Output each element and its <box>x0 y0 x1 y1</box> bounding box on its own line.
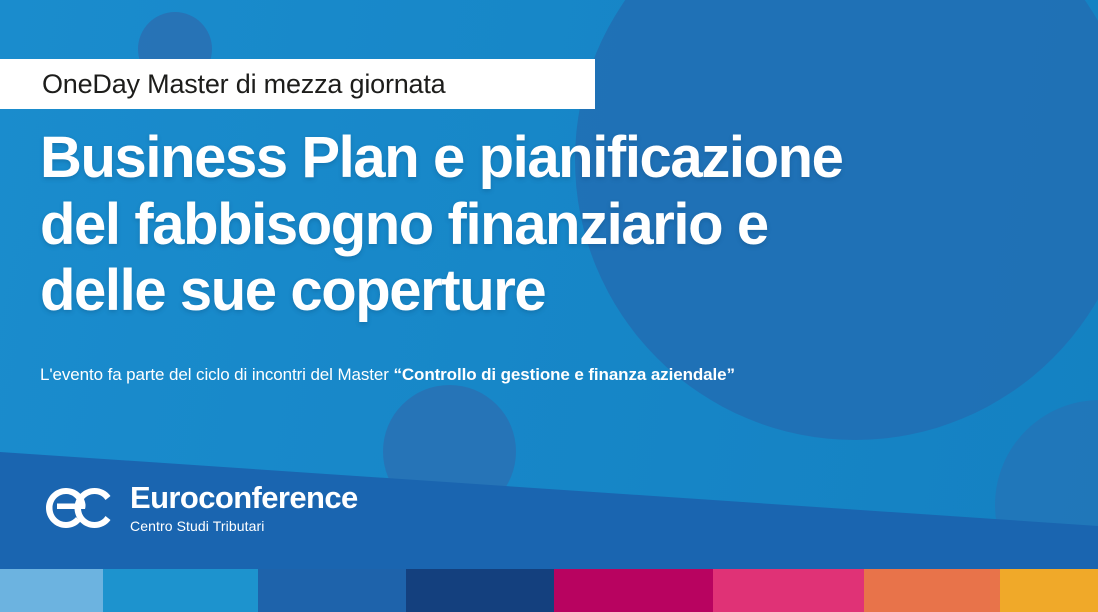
stripe-segment-navy-blue <box>406 569 554 612</box>
stripe-segment-light-blue <box>0 569 103 612</box>
logo-name: Euroconference <box>130 482 358 513</box>
subtitle-prefix: L'evento fa parte del ciclo di incontri … <box>40 365 393 384</box>
headline-line-2: del fabbisogno finanziario e <box>40 192 1060 259</box>
event-subtitle: L'evento fa parte del ciclo di incontri … <box>40 365 735 385</box>
color-stripe <box>0 569 1098 612</box>
ec-monogram-icon <box>42 484 116 532</box>
kicker-badge: OneDay Master di mezza giornata <box>0 59 595 109</box>
page-title: Business Plan e pianificazione del fabbi… <box>40 125 1060 325</box>
brand-logo: Euroconference Centro Studi Tributari <box>42 482 358 533</box>
logo-text-block: Euroconference Centro Studi Tributari <box>130 482 358 533</box>
headline-line-3: delle sue coperture <box>40 258 1060 325</box>
stripe-segment-azure-blue <box>103 569 258 612</box>
stripe-segment-orange <box>864 569 1000 612</box>
stripe-segment-crimson <box>554 569 713 612</box>
stripe-segment-gold <box>1000 569 1098 612</box>
stripe-segment-steel-blue <box>258 569 406 612</box>
stripe-segment-pink <box>713 569 864 612</box>
logo-tagline: Centro Studi Tributari <box>130 519 358 533</box>
event-banner: OneDay Master di mezza giornata Business… <box>0 0 1098 612</box>
subtitle-master-name: “Controllo di gestione e finanza azienda… <box>393 365 734 384</box>
headline-line-1: Business Plan e pianificazione <box>40 125 1060 192</box>
kicker-label: OneDay Master di mezza giornata <box>0 69 445 100</box>
